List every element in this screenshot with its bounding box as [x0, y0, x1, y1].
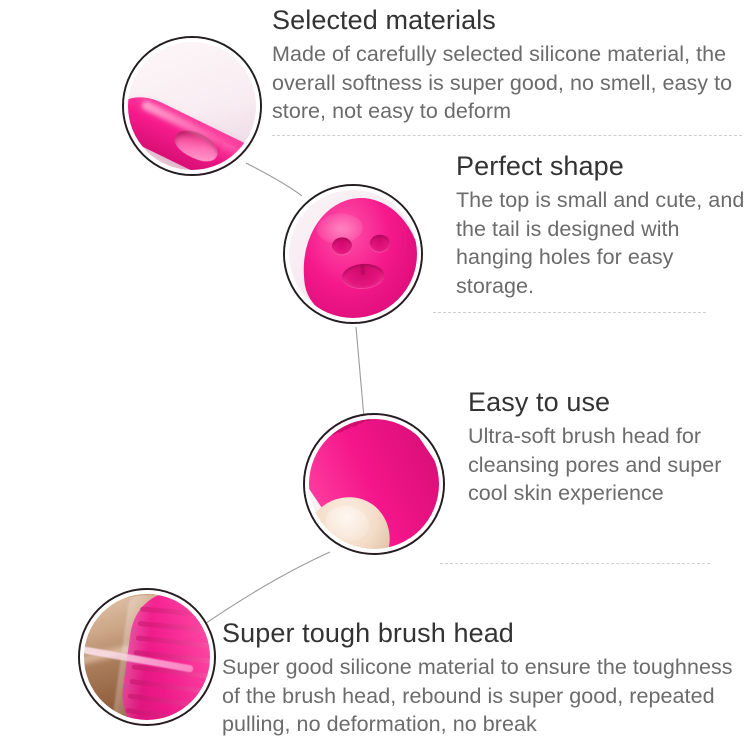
photo-brush-pulled-on-skin	[80, 590, 214, 724]
feature-photo-easy-to-use	[303, 413, 445, 555]
feature-photo-super-tough-brush-head	[78, 588, 216, 726]
divider-3	[440, 563, 710, 564]
feature-text-selected-materials: Selected materials Made of carefully sel…	[272, 5, 742, 126]
photo-brush-bristles-finger	[305, 415, 443, 553]
feature-title: Selected materials	[272, 5, 742, 37]
feature-body: The top is small and cute, and the tail …	[456, 186, 746, 301]
feature-title: Perfect shape	[456, 151, 746, 183]
dimple-mouth-notch	[360, 264, 365, 275]
feature-title: Easy to use	[468, 387, 748, 419]
feature-text-super-tough-brush-head: Super tough brush head Super good silico…	[222, 618, 742, 739]
feature-photo-selected-materials	[122, 36, 262, 176]
feature-body: Ultra-soft brush head for cleansing pore…	[468, 422, 748, 508]
product-feature-infographic: Selected materials Made of carefully sel…	[0, 0, 750, 750]
feature-photo-perfect-shape	[283, 184, 423, 324]
divider-1	[272, 135, 742, 136]
feature-text-perfect-shape: Perfect shape The top is small and cute,…	[456, 151, 746, 301]
feature-text-easy-to-use: Easy to use Ultra-soft brush head for cl…	[468, 387, 748, 508]
feature-title: Super tough brush head	[222, 618, 742, 650]
photo-handle-hanging-hole	[124, 38, 260, 174]
feature-body: Super good silicone material to ensure t…	[222, 653, 742, 739]
photo-egg-shaped-top	[285, 186, 421, 322]
feature-body: Made of carefully selected silicone mate…	[272, 40, 742, 126]
dimple-eye-right-icon	[369, 234, 390, 252]
connector-line-2-3	[356, 327, 364, 418]
divider-2	[433, 312, 706, 313]
fingernail	[322, 502, 373, 546]
dimple-eye-left-icon	[331, 237, 352, 255]
